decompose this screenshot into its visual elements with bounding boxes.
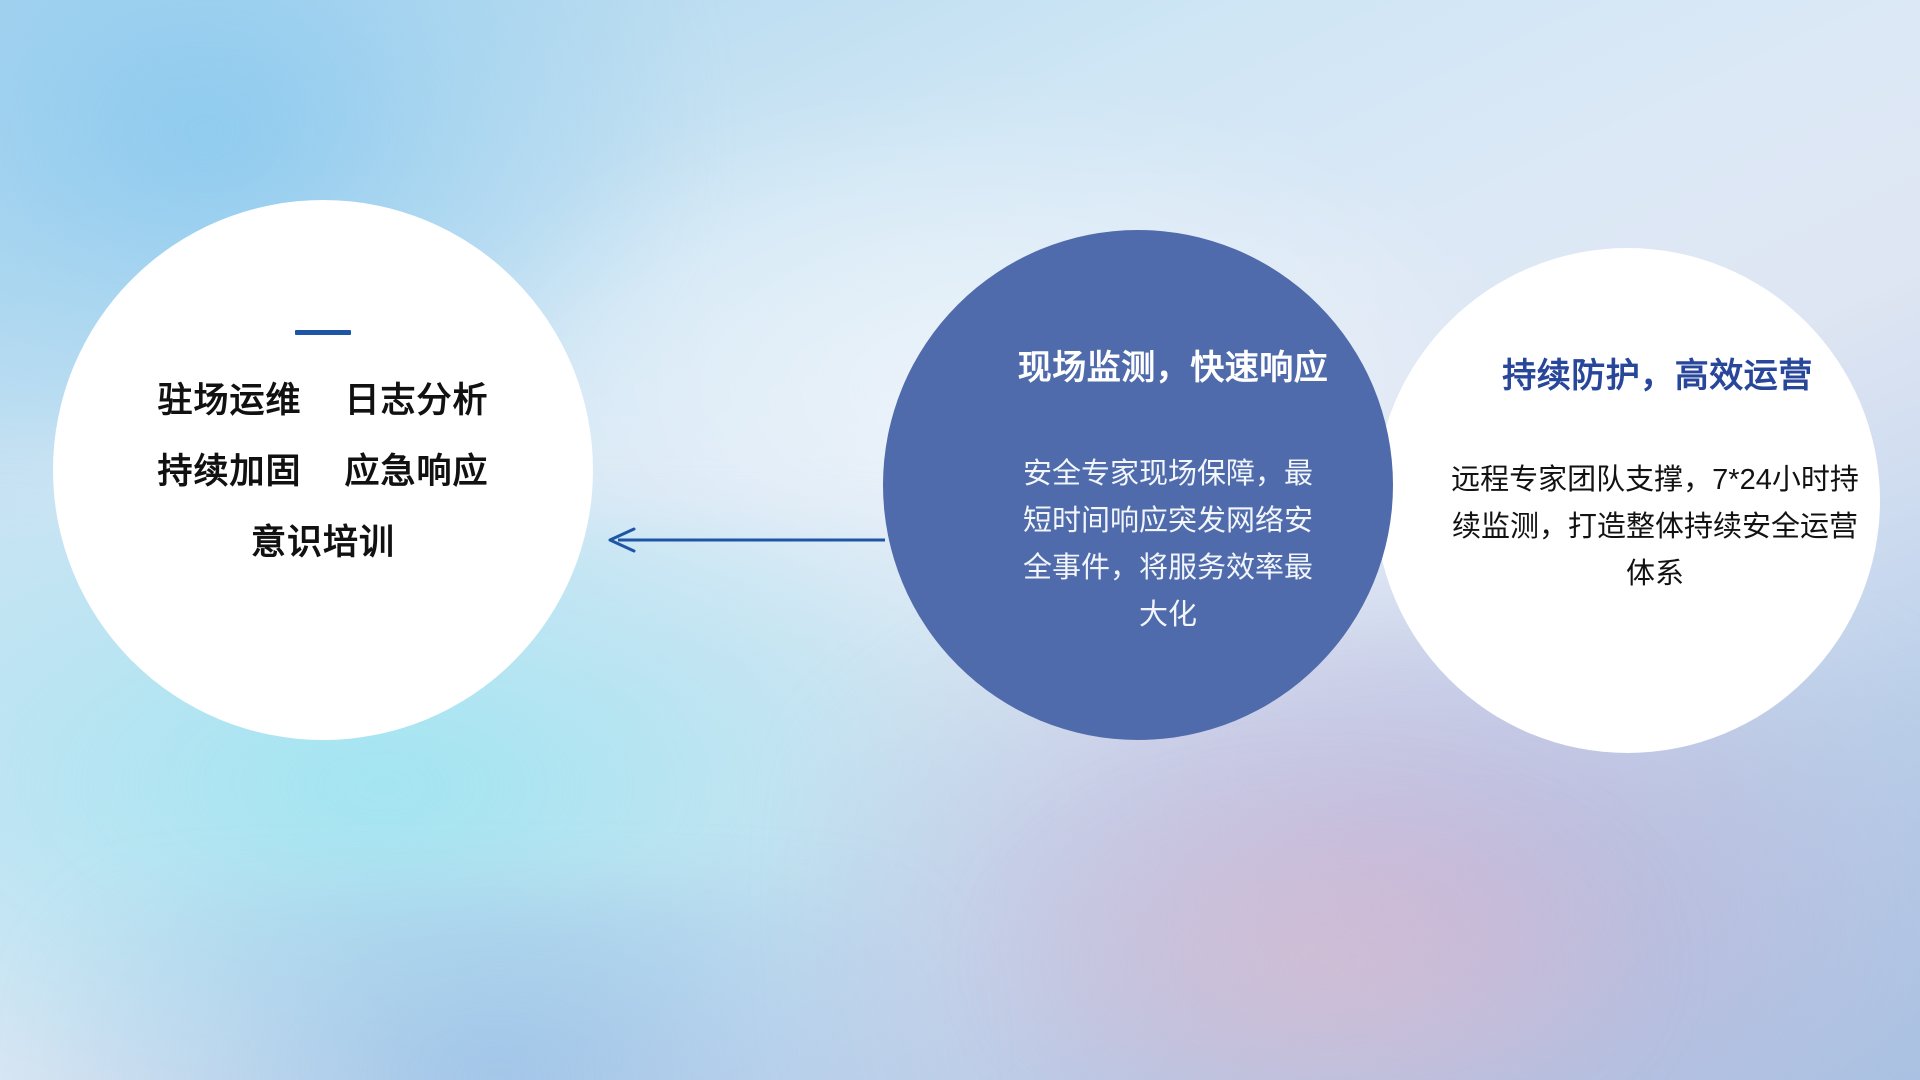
middle-circle-body: 安全专家现场保障，最短时间响应突发网络安全事件，将服务效率最大化 xyxy=(1018,451,1318,639)
right-circle-body: 远程专家团队支撑，7*24小时持续监测，打造整体持续安全运营体系 xyxy=(1445,457,1865,598)
left-service-line-3: 意识培训 xyxy=(53,525,593,560)
right-circle-content: 持续防护，高效运营 远程专家团队支撑，7*24小时持续监测，打造整体持续安全运营… xyxy=(1375,348,1880,598)
right-circle-title: 持续防护，高效运营 xyxy=(1435,348,1880,397)
left-service-line-2: 持续加固 应急响应 xyxy=(53,454,593,489)
left-circle-content: 驻场运维 日志分析 持续加固 应急响应 意识培训 xyxy=(53,330,593,560)
left-service-line-1: 驻场运维 日志分析 xyxy=(53,383,593,418)
divider-rule xyxy=(295,330,351,335)
connector-arrow xyxy=(600,525,885,555)
middle-circle-card[interactable]: 现场监测，快速响应 安全专家现场保障，最短时间响应突发网络安全事件，将服务效率最… xyxy=(883,230,1393,740)
left-circle-card[interactable]: 驻场运维 日志分析 持续加固 应急响应 意识培训 xyxy=(53,200,593,740)
middle-circle-title: 现场监测，快速响应 xyxy=(953,340,1393,389)
left-arrow-icon xyxy=(600,525,885,555)
background-glow-pink xyxy=(998,778,1651,1080)
slide-canvas: 驻场运维 日志分析 持续加固 应急响应 意识培训 持续防护，高效运营 远程专家团… xyxy=(0,0,1920,1080)
middle-circle-content: 现场监测，快速响应 安全专家现场保障，最短时间响应突发网络安全事件，将服务效率最… xyxy=(883,340,1393,639)
background-glow-bottom-blue xyxy=(38,886,960,1080)
right-circle-card[interactable]: 持续防护，高效运营 远程专家团队支撑，7*24小时持续监测，打造整体持续安全运营… xyxy=(1375,248,1880,753)
